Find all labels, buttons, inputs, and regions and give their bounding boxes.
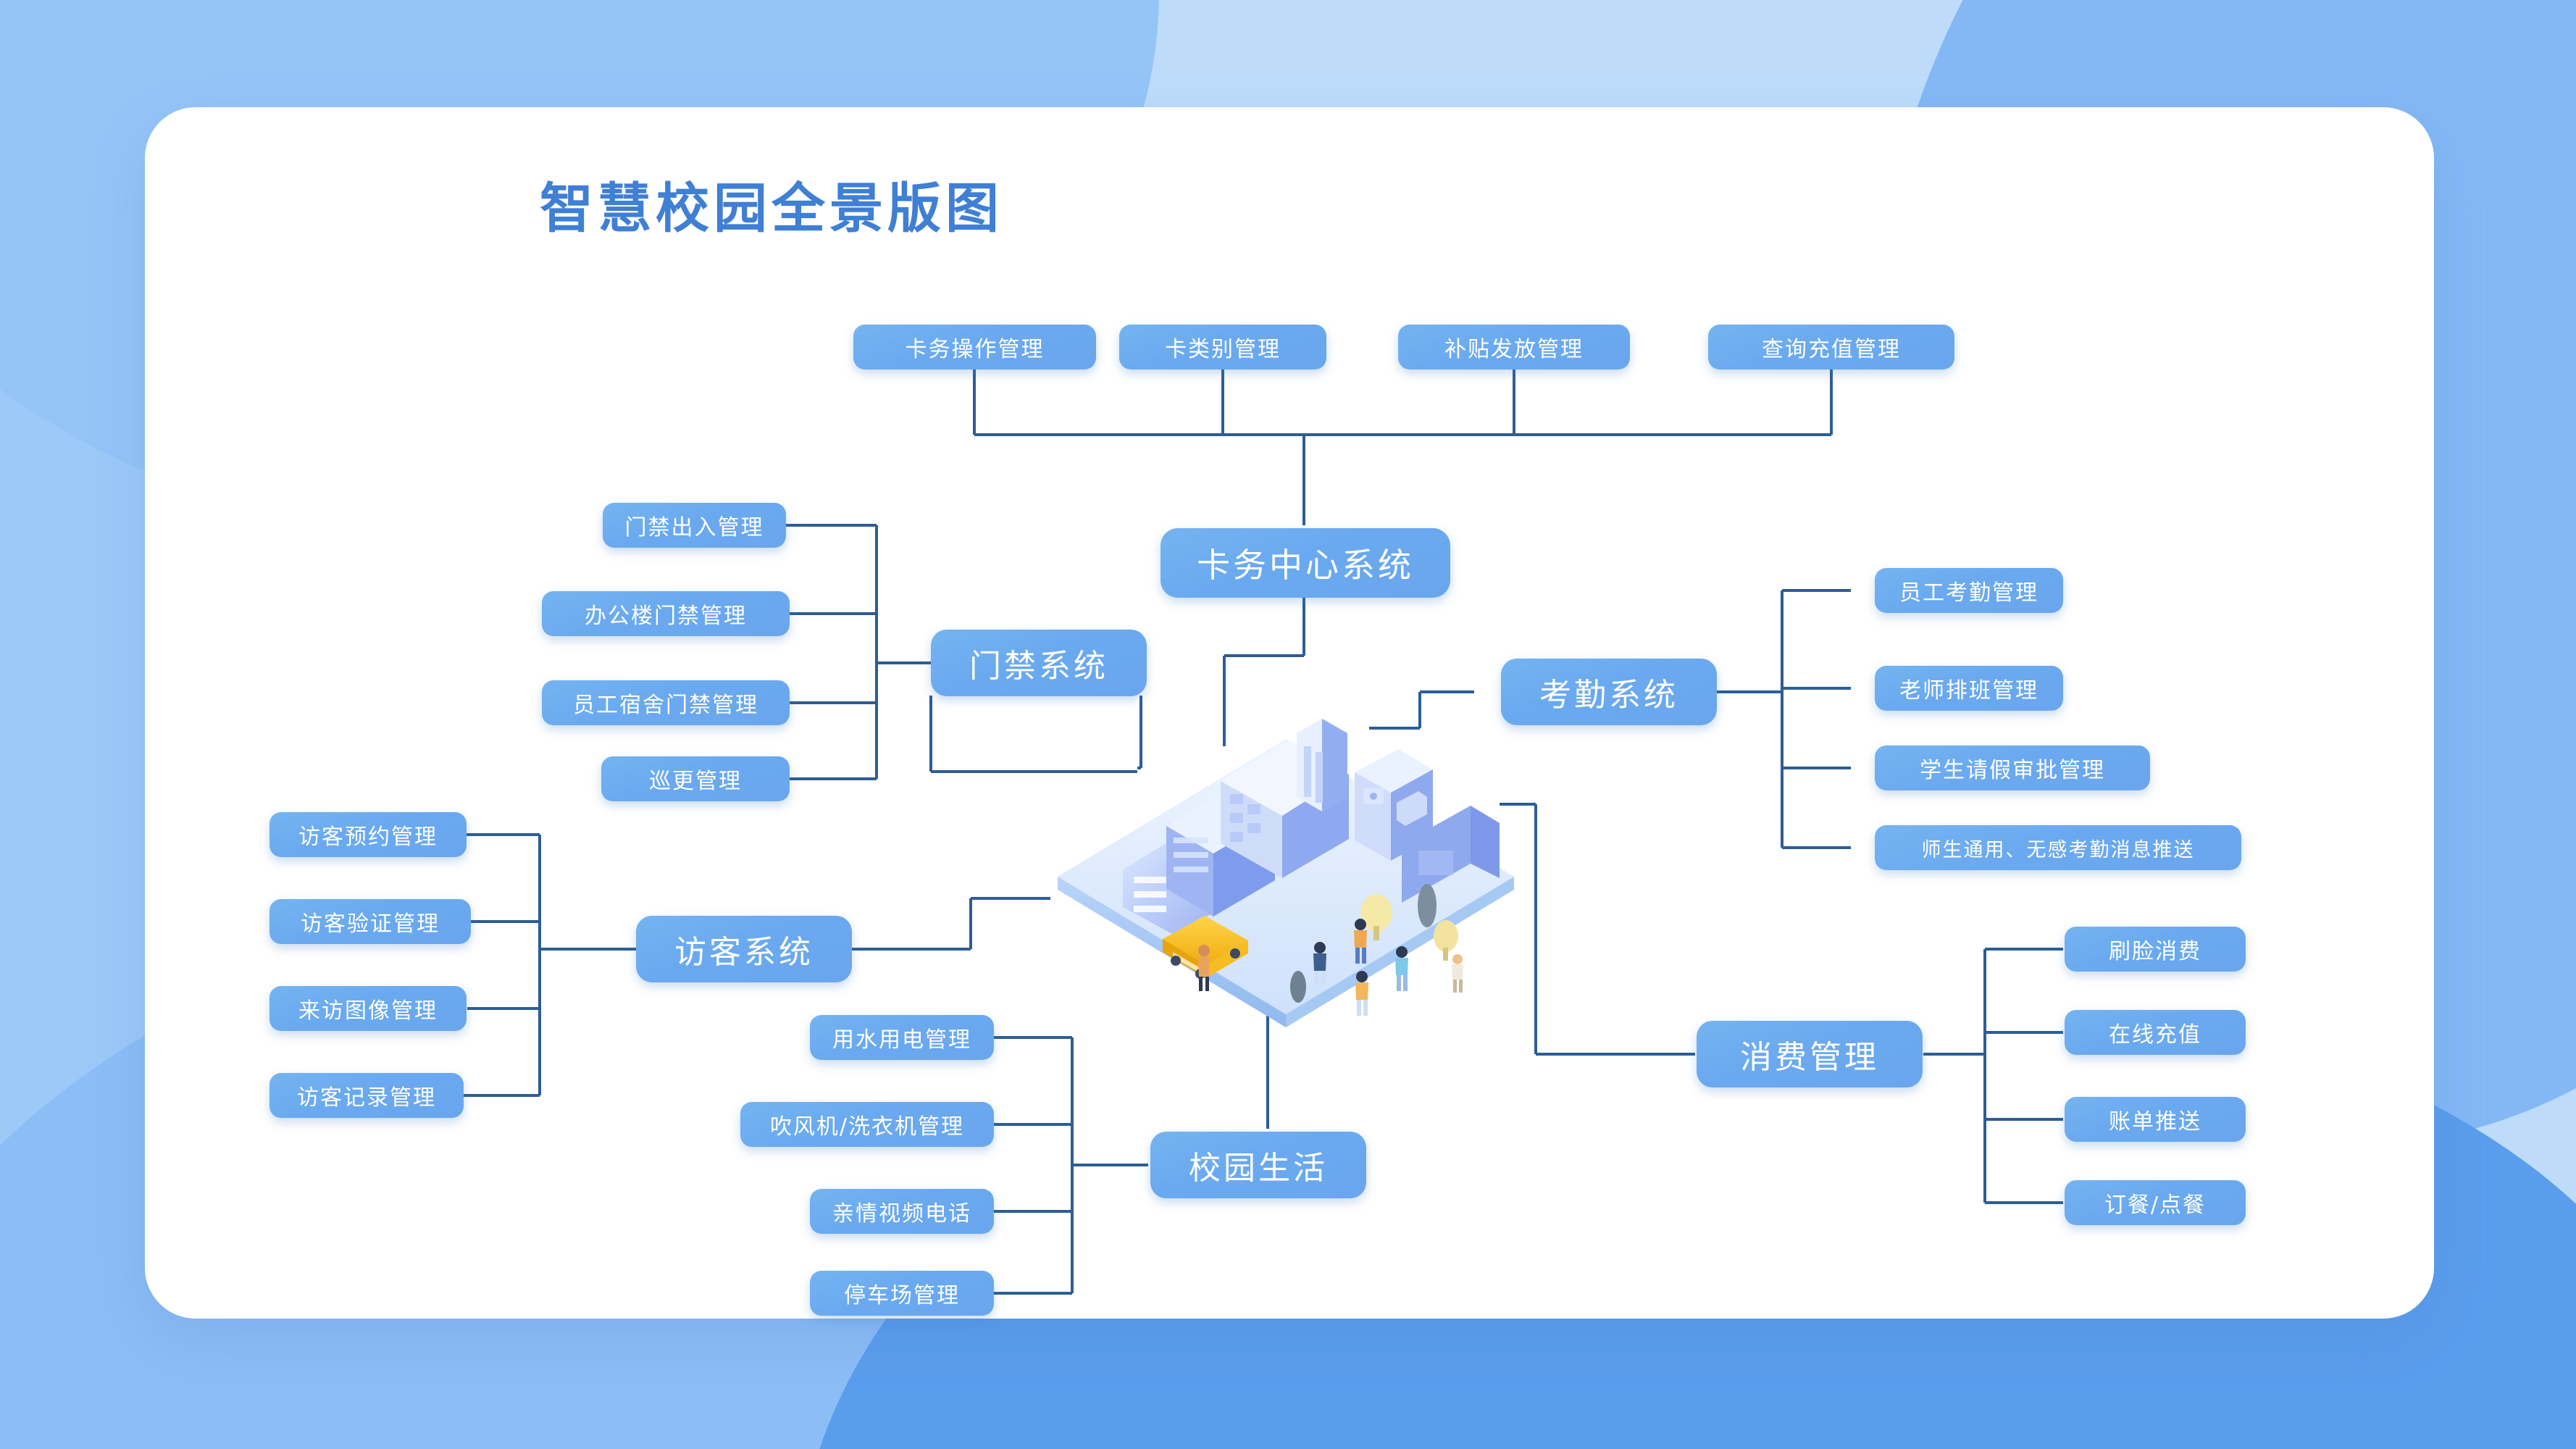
node-card-center-system[interactable]: 卡务中心系统 [1161,528,1450,598]
node-student-leave-approval-management[interactable]: 学生请假审批管理 [1875,746,2150,790]
node-label: 停车场管理 [844,1277,960,1309]
node-staff-dorm-access-management[interactable]: 员工宿舍门禁管理 [542,680,790,725]
node-hub-campus-life[interactable]: 校园生活 [1150,1132,1366,1198]
node-label: 卡务操作管理 [906,331,1045,363]
node-hub-attendance-system[interactable]: 考勤系统 [1501,659,1717,725]
node-label: 卡类别管理 [1165,331,1281,363]
node-visitor-appointment-management[interactable]: 访客预约管理 [269,812,467,857]
node-label: 访客预约管理 [298,819,438,851]
node-hub-consumption-management[interactable]: 消费管理 [1697,1021,1923,1087]
node-query-recharge-management[interactable]: 查询充值管理 [1708,325,1954,369]
node-staff-attendance-management[interactable]: 员工考勤管理 [1875,568,2063,613]
node-label: 吹风机/洗衣机管理 [770,1108,964,1140]
node-meal-ordering[interactable]: 订餐/点餐 [2065,1180,2246,1225]
node-label: 补贴发放管理 [1444,331,1584,363]
node-label: 来访图像管理 [298,993,438,1024]
page-title: 智慧校园全景版图 [540,165,1003,243]
node-hairdryer-washer-management[interactable]: 吹风机/洗衣机管理 [740,1102,994,1147]
node-label: 校园生活 [1189,1142,1328,1188]
node-face-payment[interactable]: 刷脸消费 [2065,927,2246,972]
node-family-video-call[interactable]: 亲情视频电话 [810,1189,994,1234]
node-hub-visitor-system[interactable]: 访客系统 [636,916,852,982]
node-label: 消费管理 [1740,1031,1879,1077]
node-label: 办公楼门禁管理 [585,598,747,630]
node-label: 在线充值 [2109,1016,2201,1048]
node-parking-lot-management[interactable]: 停车场管理 [810,1271,994,1316]
node-label: 访客验证管理 [301,906,440,938]
node-label: 巡更管理 [649,763,742,795]
node-office-building-access-management[interactable]: 办公楼门禁管理 [542,591,790,636]
node-label: 门禁出入管理 [625,509,764,541]
node-label: 账单推送 [2109,1103,2201,1135]
node-visitor-record-management[interactable]: 访客记录管理 [269,1073,464,1118]
node-label: 亲情视频电话 [832,1195,971,1227]
isometric-campus-illustration [1036,696,1536,1036]
node-online-recharge[interactable]: 在线充值 [2065,1010,2246,1055]
node-water-electricity-management[interactable]: 用水用电管理 [810,1015,994,1060]
node-label: 访客系统 [674,926,814,972]
node-card-category-management[interactable]: 卡类别管理 [1119,325,1326,369]
node-label: 师生通用、无感考勤消息推送 [1922,834,2195,862]
node-card-operation-management[interactable]: 卡务操作管理 [853,325,1096,369]
node-label: 老师排班管理 [1899,672,2038,704]
node-label: 订餐/点餐 [2104,1187,2206,1219]
node-label: 考勤系统 [1539,669,1678,715]
node-hub-access-control-system[interactable]: 门禁系统 [931,630,1147,696]
node-bill-push[interactable]: 账单推送 [2065,1097,2246,1142]
node-universal-contactless-attendance-push[interactable]: 师生通用、无感考勤消息推送 [1875,825,2241,870]
node-label: 用水用电管理 [832,1022,971,1053]
node-visit-image-management[interactable]: 来访图像管理 [269,986,467,1031]
node-access-entry-exit-management[interactable]: 门禁出入管理 [603,503,786,548]
node-label: 卡务中心系统 [1197,539,1414,587]
node-subsidy-distribution-management[interactable]: 补贴发放管理 [1398,325,1630,369]
node-visitor-verification-management[interactable]: 访客验证管理 [269,899,471,944]
node-label: 刷脸消费 [2109,933,2201,965]
node-label: 员工宿舍门禁管理 [573,687,758,719]
node-label: 查询充值管理 [1762,331,1901,363]
node-label: 访客记录管理 [297,1080,436,1111]
node-label: 门禁系统 [969,640,1108,686]
node-label: 学生请假审批管理 [1920,752,2105,784]
node-patrol-management[interactable]: 巡更管理 [601,756,790,801]
node-teacher-shift-management[interactable]: 老师排班管理 [1875,666,2063,711]
node-label: 员工考勤管理 [1899,575,2038,606]
